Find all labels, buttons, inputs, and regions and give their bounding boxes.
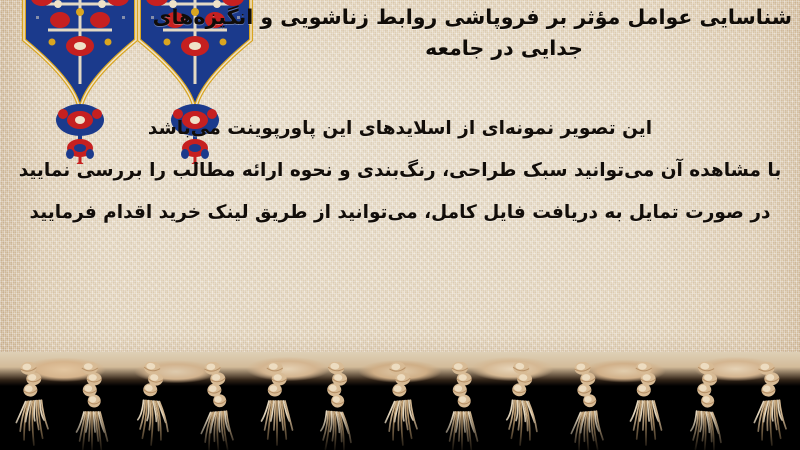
slide-title-line-1: شناسایی عوامل مؤثر بر فروپاشی روابط زناش… (224, 2, 792, 33)
fringe-tassel-icon (623, 362, 669, 450)
carpet-fringe (0, 352, 800, 450)
fringe-tassel-icon (315, 362, 361, 450)
body-line-3: در صورت تمایل به دریافت فایل کامل، می‌تو… (8, 192, 792, 234)
fringe-tassel-icon (500, 362, 546, 450)
body-line-2: با مشاهده آن می‌توانید سبک طراحی، رنگ‌بن… (8, 150, 792, 192)
fringe-tassel-icon (254, 362, 300, 450)
presentation-slide: شناسایی عوامل مؤثر بر فروپاشی روابط زناش… (0, 0, 800, 450)
fringe-tassel-icon (746, 362, 792, 450)
fringe-tassel-icon (562, 362, 608, 450)
body-line-1: این تصویر نمونه‌ای از اسلایدهای این پاور… (8, 108, 792, 150)
fringe-tassel-icon (69, 362, 115, 450)
fringe-tassel-icon (8, 362, 54, 450)
fringe-tassel-icon (439, 362, 485, 450)
slide-title: شناسایی عوامل مؤثر بر فروپاشی روابط زناش… (224, 2, 784, 64)
fringe-tassel-icon (685, 362, 731, 450)
fringe-tassel-icon (131, 362, 177, 450)
fringe-tassel-icon (192, 362, 238, 450)
slide-body: این تصویر نمونه‌ای از اسلایدهای این پاور… (8, 108, 792, 234)
slide-title-line-2: جدایی در جامعه (224, 33, 784, 64)
fringe-tassel-icon (377, 362, 423, 450)
